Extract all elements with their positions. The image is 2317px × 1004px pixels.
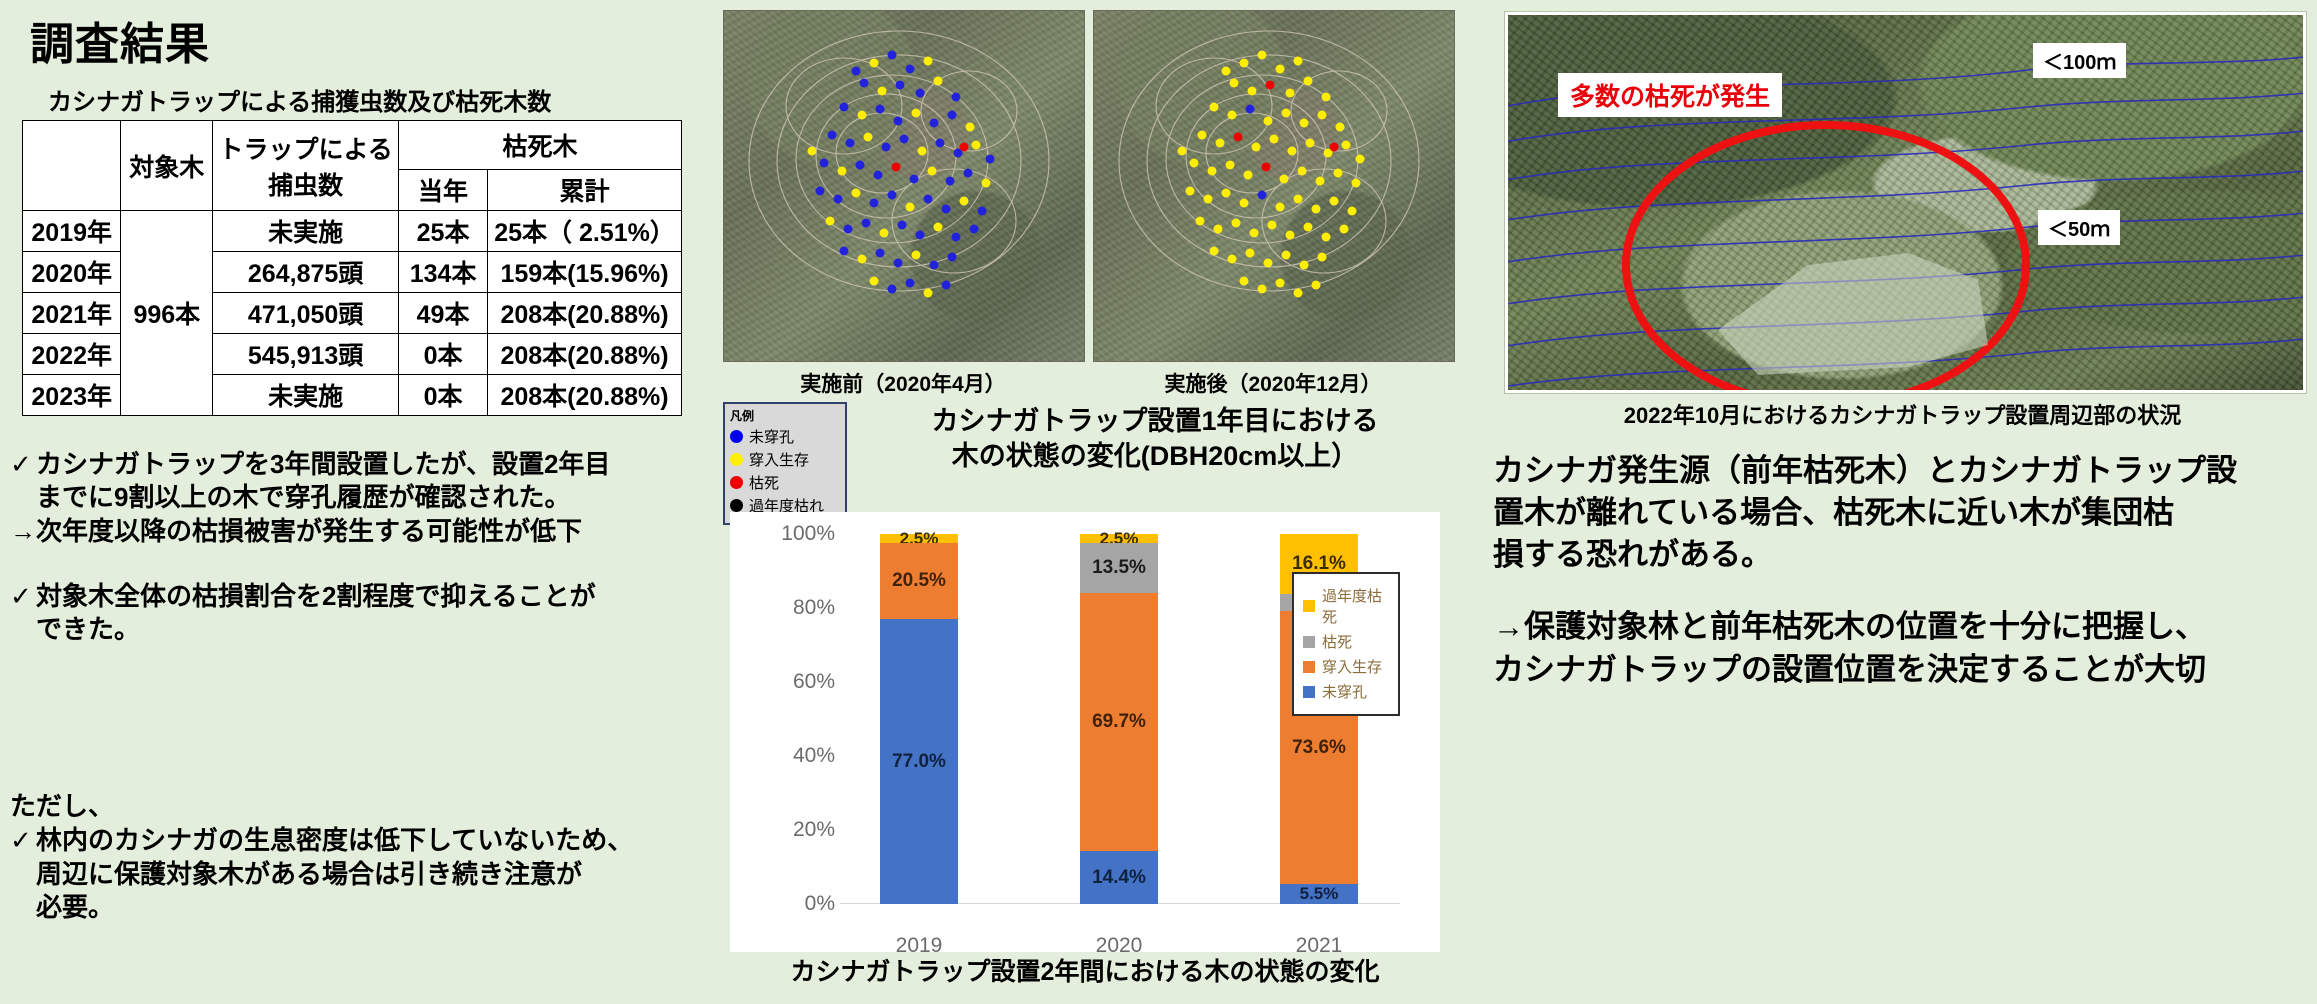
header-corner [23,121,121,211]
caveat-intro: ただし、 [10,790,740,824]
header-cumulative: 累計 [488,170,682,211]
header-target-trees: 対象木 [121,121,213,211]
chart-legend-item: 穿入生存 [1303,656,1387,677]
cell-catch: 未実施 [213,211,399,252]
aerial-photo-caption: 2022年10月におけるカシナガトラップ設置周辺部の状況 [1505,398,2300,430]
right-text-line: カシナガ発生源（前年枯死木）とカシナガトラップ設 [1493,450,2317,492]
chart-legend-item: 未穿孔 [1303,681,1387,702]
y-tick-label: 60% [745,670,835,694]
cell-year: 2022年 [23,334,121,375]
chart-inner: 100% 80% 60% 40% 20% 0% 2.5% 20.5% 77.0% [730,512,1440,952]
header-trap-catch: トラップによる 捕虫数 [213,121,399,211]
conclusion-bullets: ✓カシナガトラップを3年間設置したが、設置2年目 までに9割以上の木で穿孔履歴が… [10,448,740,652]
cell-current: 134本 [399,252,488,293]
cell-cumulative: 25本（ 2.51%） [488,211,682,252]
maps-section-title: カシナガトラップ設置1年目における 木の状態の変化(DBH20cm以上） [855,404,1455,473]
bullet-text: 対象木全体の枯損割合を2割程度で抑えることが [36,581,596,611]
bullet-line: ✓対象木全体の枯損割合を2割程度で抑えることが [10,580,740,613]
check-icon: ✓ [10,448,36,481]
map-before-treatment [723,10,1085,362]
annotation-many-dead-trees: 多数の枯死が発生 [1558,73,1782,117]
y-tick-label: 40% [745,744,835,768]
cell-year: 2023年 [23,375,121,416]
chart-legend-label: 過年度枯死 [1322,585,1387,627]
bullet-group-1: ✓カシナガトラップを3年間設置したが、設置2年目 までに9割以上の木で穿孔履歴が… [10,448,740,548]
cell-cumulative: 208本(20.88%) [488,334,682,375]
segment-past-dead: 2.5% [880,534,958,543]
table-body: 2019年 996本 未実施 25本 25本（ 2.51%） 2020年 264… [23,211,682,416]
chart-legend: 過年度枯死 枯死 穿入生存 未穿孔 [1292,572,1400,716]
chart-legend-label: 枯死 [1322,631,1352,652]
cell-cumulative: 159本(15.96%) [488,252,682,293]
legend-dot-icon [730,453,743,466]
cell-year: 2019年 [23,211,121,252]
bullet-line: 周辺に保護対象木がある場合は引き続き注意が [10,858,740,892]
cell-target-trees: 996本 [121,211,213,416]
middle-column: 実施前（2020年4月） 実施後（2020年12月） 凡例 未穿孔 穿入生存 枯… [715,0,1455,1004]
segment-past-dead: 2.5% [1080,534,1158,543]
tag-within-100m: ＜100ｍ [2033,43,2126,78]
tree-status-dots-before [724,11,1084,361]
bullet-line: できた。 [10,613,740,646]
page-title: 調査結果 [30,8,210,72]
segment-unbored: 5.5% [1280,884,1358,904]
segment-bored-alive: 69.7% [1080,593,1158,851]
table-header-row-1: 対象木 トラップによる 捕虫数 枯死木 [23,121,682,170]
cell-catch: 471,050頭 [213,293,399,334]
y-tick-label: 0% [745,892,835,916]
bullet-line: までに9割以上の木で穿孔履歴が確認された。 [10,481,740,514]
legend-swatch-icon [1303,686,1315,698]
chart-caption: カシナガトラップ設置2年間における木の状態の変化 [715,952,1455,988]
spacer [1493,576,2317,606]
maps-title-line1: カシナガトラップ設置1年目における [931,406,1378,436]
header-dead-trees: 枯死木 [399,121,682,170]
legend-label: 穿入生存 [749,449,809,470]
legend-item: 未穿孔 [730,426,840,447]
cell-year: 2020年 [23,252,121,293]
plot-area: 2.5% 20.5% 77.0% 2.5% 13.5% 69.7% 14.4% … [840,534,1400,904]
left-column: 調査結果 カシナガトラップによる捕獲虫数及び枯死木数 対象木 トラップによる 捕… [0,0,740,1004]
slide-root: 調査結果 カシナガトラップによる捕獲虫数及び枯死木数 対象木 トラップによる 捕… [0,0,2317,1004]
y-tick-label: 80% [745,596,835,620]
tag-within-50m: ＜50ｍ [2038,210,2120,245]
segment-bored-alive: 20.5% [880,543,958,619]
right-text-line-arrow: →保護対象林と前年枯死木の位置を十分に把握し、 [1493,606,2317,648]
header-trap-catch-line1: トラップによる [218,136,392,164]
check-icon: ✓ [10,580,36,613]
legend-label: 枯死 [749,472,779,493]
cell-current: 0本 [399,375,488,416]
legend-title: 凡例 [730,407,840,424]
chart-legend-label: 穿入生存 [1322,656,1382,677]
legend-swatch-icon [1303,600,1315,612]
table-row: 2019年 996本 未実施 25本 25本（ 2.51%） [23,211,682,252]
legend-label: 未穿孔 [749,426,794,447]
right-column: 多数の枯死が発生 ＜100ｍ ＜50ｍ 2022年10月におけるカシナガトラップ… [1480,0,2317,1004]
legend-dot-icon [730,476,743,489]
cell-current: 49本 [399,293,488,334]
legend-dot-icon [730,499,743,512]
legend-swatch-icon [1303,661,1315,673]
header-trap-catch-line2: 捕虫数 [268,172,343,200]
maps-title-line2: 木の状態の変化(DBH20cm以上） [952,441,1359,471]
chart-legend-label: 未穿孔 [1322,681,1367,702]
survey-results-table: 対象木 トラップによる 捕虫数 枯死木 当年 累計 2019年 996本 未実施 [22,120,682,416]
cell-catch: 264,875頭 [213,252,399,293]
spacer [10,554,740,580]
right-text-line: カシナガトラップの設置位置を決定することが大切 [1493,649,2317,691]
map-legend: 凡例 未穿孔 穿入生存 枯死 過年度枯れ [723,402,847,525]
bullet-line-arrow: →次年度以降の枯損被害が発生する可能性が低下 [10,515,740,548]
chart-legend-item: 過年度枯死 [1303,585,1387,627]
segment-dead: 13.5% [1080,543,1158,593]
segment-unbored: 14.4% [1080,851,1158,904]
bullet-line: ✓林内のカシナガの生息密度は低下していないため、 [10,824,740,858]
cell-current: 25本 [399,211,488,252]
cell-cumulative: 208本(20.88%) [488,293,682,334]
cell-year: 2021年 [23,293,121,334]
cell-cumulative: 208本(20.88%) [488,375,682,416]
bullet-line: ✓カシナガトラップを3年間設置したが、設置2年目 [10,448,740,481]
aerial-photo-2022: 多数の枯死が発生 ＜100ｍ ＜50ｍ [1505,12,2306,393]
map-before-caption: 実施前（2020年4月） [723,368,1083,398]
map-after-caption: 実施後（2020年12月） [1093,368,1453,398]
bullet-text: カシナガトラップを3年間設置したが、設置2年目 [36,449,610,479]
caveat-bullets: ただし、 ✓林内のカシナガの生息密度は低下していないため、 周辺に保護対象木があ… [10,790,740,925]
right-conclusion-text: カシナガ発生源（前年枯死木）とカシナガトラップ設 置木が離れている場合、枯死木に… [1493,450,2317,691]
bar-2019: 2.5% 20.5% 77.0% [880,534,958,904]
bullet-line: 必要。 [10,891,740,925]
tree-status-dots-after [1094,11,1454,361]
cell-catch: 545,913頭 [213,334,399,375]
right-text-line: 置木が離れている場合、枯死木に近い木が集団枯 [1493,492,2317,534]
legend-swatch-icon [1303,636,1315,648]
y-tick-label: 100% [745,522,835,546]
bar-2020: 2.5% 13.5% 69.7% 14.4% [1080,534,1158,904]
bullet-group-2: ✓対象木全体の枯損割合を2割程度で抑えることが できた。 [10,580,740,647]
cell-current: 0本 [399,334,488,375]
clearing-patch [1718,253,1988,375]
legend-dot-icon [730,430,743,443]
table-caption: カシナガトラップによる捕獲虫数及び枯死木数 [48,82,551,117]
chart-legend-item: 枯死 [1303,631,1387,652]
bullet-text: 林内のカシナガの生息密度は低下していないため、 [36,825,633,855]
segment-unbored: 77.0% [880,619,958,904]
stacked-bar-chart: 100% 80% 60% 40% 20% 0% 2.5% 20.5% 77.0% [730,512,1440,952]
map-after-treatment [1093,10,1455,362]
aerial-overlay [1508,15,2303,390]
cell-catch: 未実施 [213,375,399,416]
header-current-year: 当年 [399,170,488,211]
check-icon: ✓ [10,824,36,858]
legend-item: 枯死 [730,472,840,493]
y-tick-label: 20% [745,818,835,842]
legend-item: 穿入生存 [730,449,840,470]
right-text-line: 損する恐れがある。 [1493,534,2317,576]
